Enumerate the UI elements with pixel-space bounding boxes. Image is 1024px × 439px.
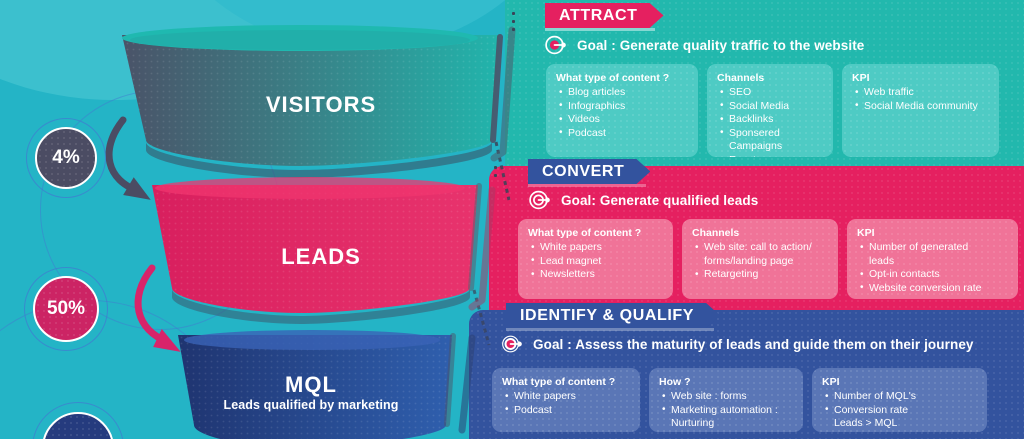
goal-text-attract: Goal : Generate quality traffic to the w… bbox=[577, 38, 864, 53]
conversion-badge-visitors: 4% bbox=[35, 127, 97, 189]
card-heading: KPI bbox=[822, 376, 977, 388]
list-item: Social Media community bbox=[852, 100, 989, 114]
ribbon-label-convert: CONVERT bbox=[542, 163, 624, 181]
list-item: Web site: call to action/ bbox=[692, 241, 828, 255]
ribbon-underline-identify bbox=[506, 328, 714, 331]
list-item: Lead magnet bbox=[528, 255, 663, 269]
list-item: Web traffic bbox=[852, 86, 989, 100]
list-item: Blog articles bbox=[556, 86, 688, 100]
card-list: Web traffic Social Media community bbox=[852, 86, 989, 113]
list-item: Web site : forms bbox=[659, 390, 793, 404]
card-list: Number of MQL's Conversion rate Leads > … bbox=[822, 390, 977, 431]
card-list: SEO Social Media Backlinks Sponsered Cam… bbox=[717, 86, 823, 157]
card-list: White papers Lead magnet Newsletters bbox=[528, 241, 663, 282]
list-item: Conversion rate bbox=[822, 404, 977, 418]
list-item: White papers bbox=[502, 390, 630, 404]
ribbon-convert[interactable]: CONVERT bbox=[528, 159, 650, 184]
ribbon-attract[interactable]: ATTRACT bbox=[545, 3, 664, 28]
card-heading: KPI bbox=[852, 72, 989, 84]
list-item: Number of MQL's bbox=[822, 390, 977, 404]
ribbon-underline-convert bbox=[528, 184, 646, 187]
card-heading: What type of content ? bbox=[528, 227, 663, 239]
card-list: Blog articles Infographics Videos Podcas… bbox=[556, 86, 688, 140]
cards-convert: What type of content ? White papers Lead… bbox=[518, 219, 1018, 299]
card-convert-content: What type of content ? White papers Lead… bbox=[518, 219, 673, 299]
list-item: Website conversion rate bbox=[857, 282, 1008, 296]
card-heading: What type of content ? bbox=[556, 72, 688, 84]
card-identify-kpi: KPI Number of MQL's Conversion rate Lead… bbox=[812, 368, 987, 432]
ribbon-identify[interactable]: IDENTIFY & QUALIFY bbox=[506, 303, 720, 328]
conversion-badge-leads-value: 50% bbox=[47, 298, 85, 320]
target-icon bbox=[544, 33, 568, 57]
card-list: Number of generated leads Opt-in contact… bbox=[857, 241, 1008, 295]
goal-row-identify: Goal : Assess the maturity of leads and … bbox=[500, 332, 974, 356]
goal-row-attract: Goal : Generate quality traffic to the w… bbox=[544, 33, 864, 57]
list-item-continuation: Nurturing bbox=[659, 417, 793, 431]
card-heading: What type of content ? bbox=[502, 376, 630, 388]
list-item: Marketing automation : bbox=[659, 404, 793, 418]
target-icon bbox=[528, 188, 552, 212]
list-item: Social Media bbox=[717, 100, 823, 114]
card-list: Web site: call to action/ forms/landing … bbox=[692, 241, 828, 282]
cards-identify: What type of content ? White papers Podc… bbox=[492, 368, 987, 432]
card-identify-content: What type of content ? White papers Podc… bbox=[492, 368, 640, 432]
list-item: Podcast bbox=[502, 404, 630, 418]
list-item-continuation: Leads > MQL bbox=[822, 417, 977, 431]
list-item-continuation: leads bbox=[857, 255, 1008, 269]
card-list: White papers Podcast bbox=[502, 390, 630, 417]
target-icon bbox=[500, 332, 524, 356]
conversion-badge-leads: 50% bbox=[33, 276, 99, 342]
card-heading: Channels bbox=[717, 72, 823, 84]
goal-row-convert: Goal: Generate qualified leads bbox=[528, 188, 758, 212]
list-item: Newsletters bbox=[528, 268, 663, 282]
card-convert-kpi: KPI Number of generated leads Opt-in con… bbox=[847, 219, 1018, 299]
card-heading: KPI bbox=[857, 227, 1008, 239]
goal-text-convert: Goal: Generate qualified leads bbox=[561, 193, 758, 208]
infographic-canvas: VISITORS LEADS MQL Leads qualified by ma… bbox=[0, 0, 1024, 439]
list-item: Videos bbox=[556, 113, 688, 127]
list-item: White papers bbox=[528, 241, 663, 255]
leader-dots-convert bbox=[494, 166, 497, 182]
ribbon-label-attract: ATTRACT bbox=[559, 7, 638, 25]
list-item-continuation: forms/landing page bbox=[692, 255, 828, 269]
card-heading: Channels bbox=[692, 227, 828, 239]
card-list: Web site : forms Marketing automation : … bbox=[659, 390, 793, 431]
list-item: Infographics bbox=[556, 100, 688, 114]
card-identify-how: How ? Web site : forms Marketing automat… bbox=[649, 368, 803, 432]
list-item: Opt-in contacts bbox=[857, 268, 1008, 282]
card-convert-channels: Channels Web site: call to action/ forms… bbox=[682, 219, 838, 299]
goal-text-identify: Goal : Assess the maturity of leads and … bbox=[533, 337, 974, 352]
card-attract-kpi: KPI Web traffic Social Media community bbox=[842, 64, 999, 157]
list-item: Backlinks bbox=[717, 113, 823, 127]
ribbon-underline-attract bbox=[545, 28, 655, 31]
list-item: Sponsered Campaigns bbox=[717, 127, 823, 154]
list-item: Events bbox=[717, 154, 823, 158]
list-item: Retargeting bbox=[692, 268, 828, 282]
ribbon-label-identify: IDENTIFY & QUALIFY bbox=[520, 307, 694, 325]
card-heading: How ? bbox=[659, 376, 793, 388]
list-item: Number of generated bbox=[857, 241, 1008, 255]
list-item: SEO bbox=[717, 86, 823, 100]
conversion-badge-visitors-value: 4% bbox=[52, 147, 79, 169]
cards-attract: What type of content ? Blog articles Inf… bbox=[546, 64, 999, 157]
leader-dots-attract bbox=[512, 12, 515, 36]
card-attract-content: What type of content ? Blog articles Inf… bbox=[546, 64, 698, 157]
card-attract-channels: Channels SEO Social Media Backlinks Spon… bbox=[707, 64, 833, 157]
list-item: Podcast bbox=[556, 127, 688, 141]
